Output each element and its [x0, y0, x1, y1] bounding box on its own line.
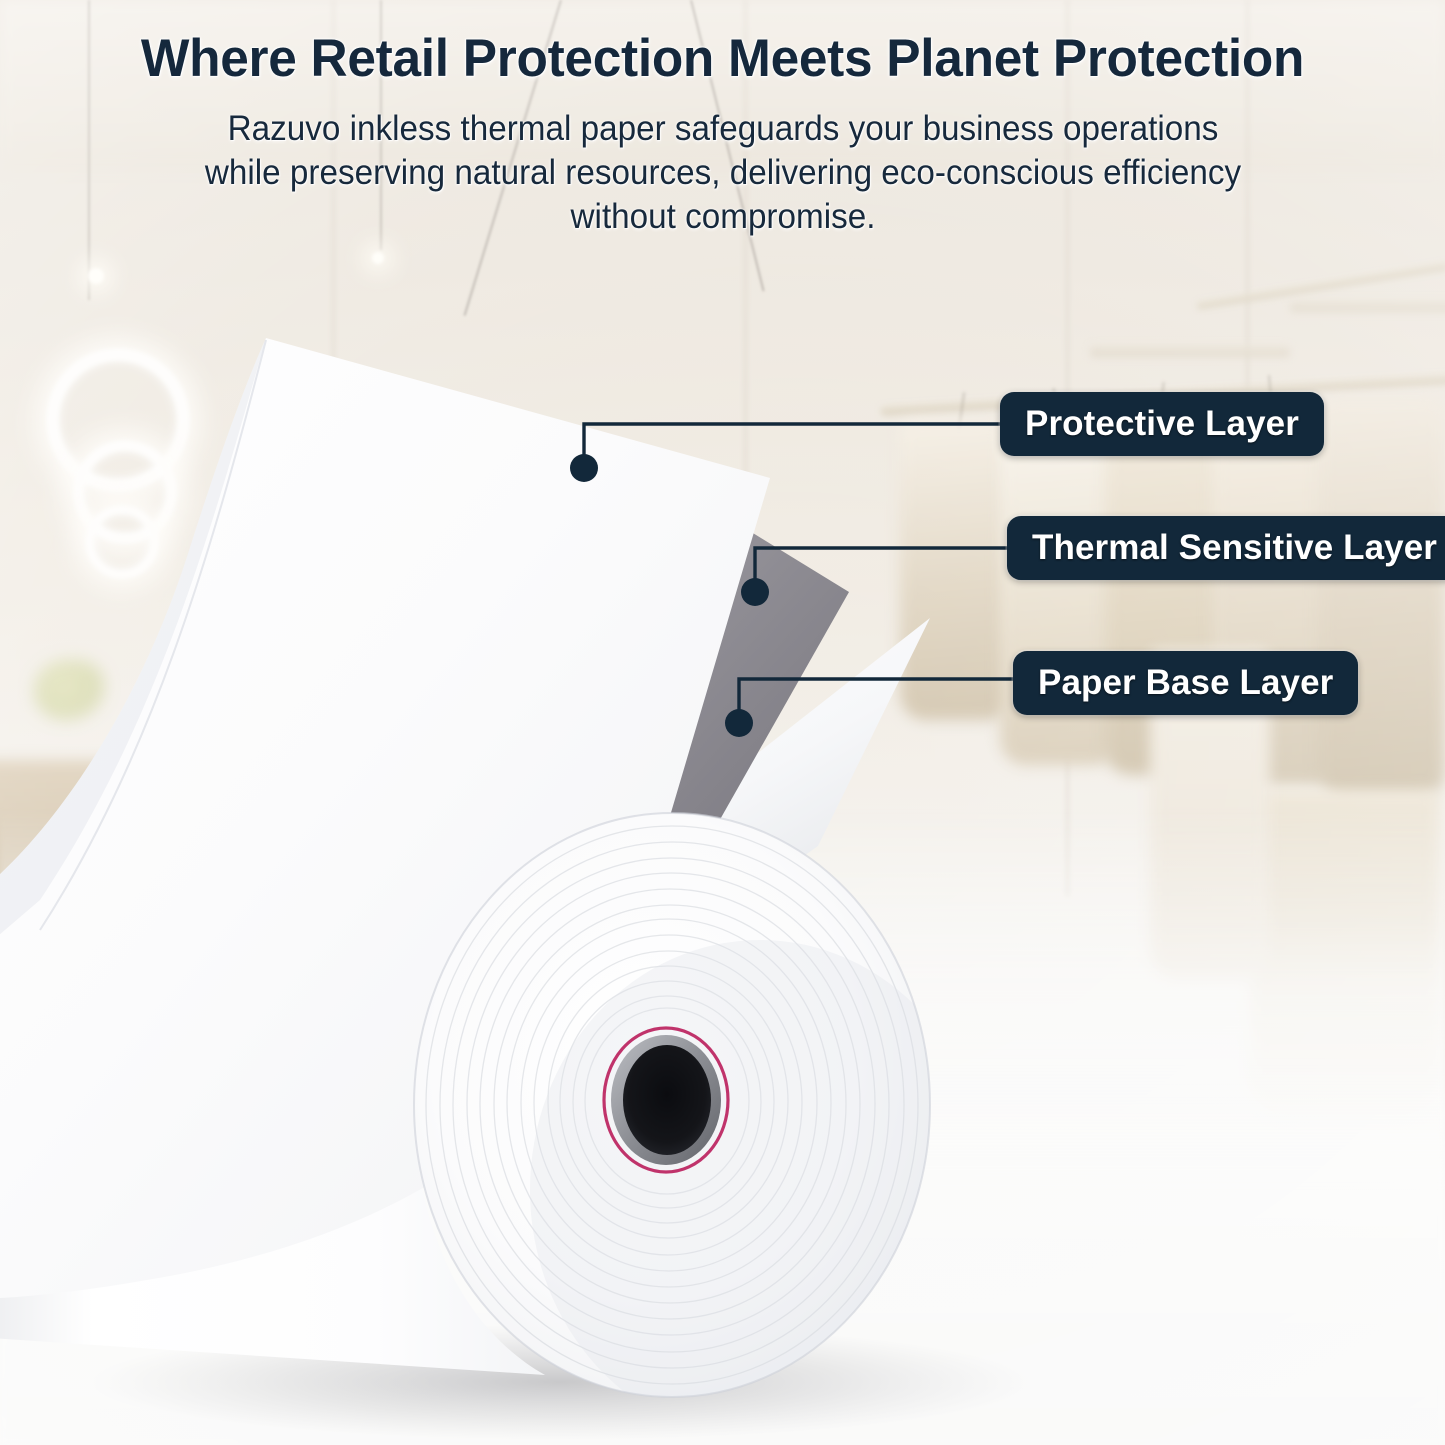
subheadline: Razuvo inkless thermal paper safeguards … — [186, 107, 1260, 239]
product-infographic: Protective Layer Thermal Sensitive Layer… — [0, 0, 1445, 1445]
callout-label-protective-layer: Protective Layer — [1000, 392, 1324, 456]
callout-label-paper-base-layer: Paper Base Layer — [1013, 651, 1358, 715]
callout-label-thermal-sensitive-layer: Thermal Sensitive Layer — [1007, 516, 1445, 580]
header-copy: Where Retail Protection Meets Planet Pro… — [0, 0, 1445, 239]
headline: Where Retail Protection Meets Planet Pro… — [22, 32, 1424, 85]
